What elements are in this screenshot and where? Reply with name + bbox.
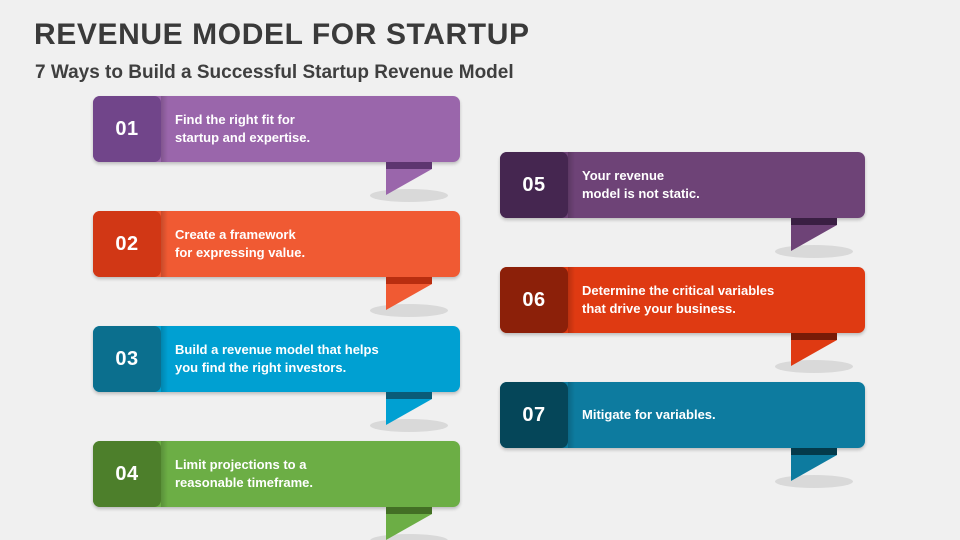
- banner-number: 04: [115, 463, 138, 486]
- banner-text-line1: Determine the critical variables: [582, 282, 851, 300]
- banner-tail: [386, 284, 432, 310]
- banner-03[interactable]: 03Build a revenue model that helpsyou fi…: [93, 326, 460, 392]
- banner-number: 02: [115, 233, 138, 256]
- banner-number-tab: 01: [93, 96, 161, 162]
- banner-text: Find the right fit forstartup and expert…: [175, 96, 446, 162]
- banner-number-tab: 07: [500, 382, 568, 448]
- banner-text-line1: Create a framework: [175, 226, 446, 244]
- banner-tab-seam: [161, 326, 168, 392]
- banner-tab-seam: [161, 96, 168, 162]
- banner-number: 06: [522, 289, 545, 312]
- banner-fold: [386, 277, 432, 284]
- banner-tail: [386, 169, 432, 195]
- banner-number-tab: 05: [500, 152, 568, 218]
- banner-text: Your revenuemodel is not static.: [582, 152, 851, 218]
- banner-text-line2: you find the right investors.: [175, 359, 446, 377]
- banner-fold: [791, 448, 837, 455]
- banner-tab-seam: [161, 211, 168, 277]
- banner-number: 05: [522, 174, 545, 197]
- banner-number: 03: [115, 348, 138, 371]
- banner-number: 01: [115, 118, 138, 141]
- banner-text-line1: Your revenue: [582, 167, 851, 185]
- page-subtitle: 7 Ways to Build a Successful Startup Rev…: [35, 62, 514, 84]
- banner-fold: [791, 333, 837, 340]
- banner-number-tab: 02: [93, 211, 161, 277]
- banner-fold: [791, 218, 837, 225]
- banner-05[interactable]: 05Your revenuemodel is not static.: [500, 152, 865, 218]
- banner-01[interactable]: 01Find the right fit forstartup and expe…: [93, 96, 460, 162]
- banner-tail: [791, 340, 837, 366]
- banner-text-line2: for expressing value.: [175, 244, 446, 262]
- banner-tail: [791, 455, 837, 481]
- banner-number: 07: [522, 404, 545, 427]
- banner-text-line1: Mitigate for variables.: [582, 406, 851, 424]
- banner-text: Mitigate for variables.: [582, 382, 851, 448]
- banner-text-line2: that drive your business.: [582, 300, 851, 318]
- banner-text: Create a frameworkfor expressing value.: [175, 211, 446, 277]
- banner-number-tab: 04: [93, 441, 161, 507]
- banner-tab-seam: [568, 382, 575, 448]
- banner-06[interactable]: 06Determine the critical variablesthat d…: [500, 267, 865, 333]
- banner-tab-seam: [568, 152, 575, 218]
- banner-tab-seam: [568, 267, 575, 333]
- banner-text-line1: Build a revenue model that helps: [175, 341, 446, 359]
- banner-text-line2: model is not static.: [582, 185, 851, 203]
- banner-04[interactable]: 04Limit projections to areasonable timef…: [93, 441, 460, 507]
- banner-fold: [386, 507, 432, 514]
- banner-number-tab: 03: [93, 326, 161, 392]
- banner-text-line1: Find the right fit for: [175, 111, 446, 129]
- banner-tail: [386, 514, 432, 540]
- page-title: REVENUE MODEL FOR STARTUP: [34, 18, 530, 52]
- banner-tail: [386, 399, 432, 425]
- banner-fold: [386, 162, 432, 169]
- banner-tab-seam: [161, 441, 168, 507]
- banner-text-line1: Limit projections to a: [175, 456, 446, 474]
- banner-text-line2: reasonable timeframe.: [175, 474, 446, 492]
- banner-text-line2: startup and expertise.: [175, 129, 446, 147]
- banner-fold: [386, 392, 432, 399]
- banner-number-tab: 06: [500, 267, 568, 333]
- slide-canvas: REVENUE MODEL FOR STARTUP 7 Ways to Buil…: [0, 0, 960, 540]
- banner-text: Limit projections to areasonable timefra…: [175, 441, 446, 507]
- banner-tail: [791, 225, 837, 251]
- banner-07[interactable]: 07Mitigate for variables.: [500, 382, 865, 448]
- banner-text: Determine the critical variablesthat dri…: [582, 267, 851, 333]
- banner-text: Build a revenue model that helpsyou find…: [175, 326, 446, 392]
- banner-02[interactable]: 02Create a frameworkfor expressing value…: [93, 211, 460, 277]
